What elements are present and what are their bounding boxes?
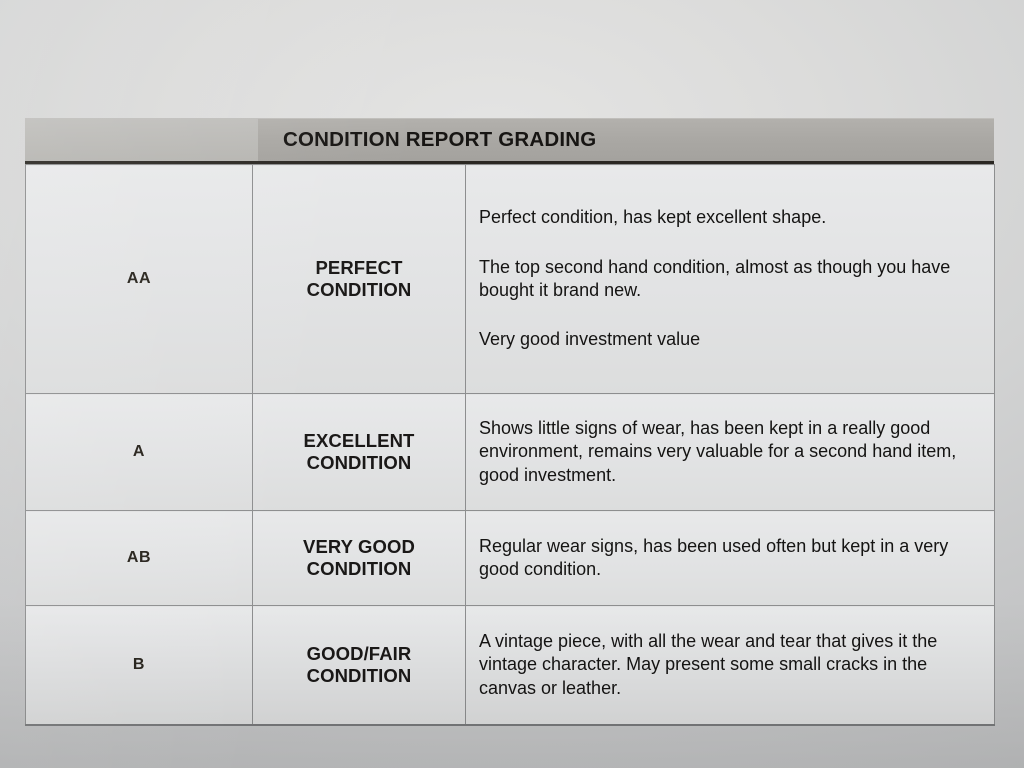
table-row: AA PERFECT CONDITION Perfect condition, … [26,165,995,394]
condition-name-line-1: EXCELLENT [254,430,464,452]
condition-description-cell: Shows little signs of wear, has been kep… [466,394,995,511]
grade-code-cell: AB [26,511,253,606]
table-header-bar: CONDITION REPORT GRADING [25,118,994,164]
condition-name-line-2: CONDITION [254,665,464,687]
grading-table: AA PERFECT CONDITION Perfect condition, … [25,164,995,726]
description-paragraph: Perfect condition, has kept excellent sh… [479,206,980,229]
condition-name-line-1: PERFECT [254,257,464,279]
condition-description-cell: Perfect condition, has kept excellent sh… [466,165,995,394]
photographed-document: CONDITION REPORT GRADING AA PERFECT COND… [0,0,1024,768]
grade-code-cell: AA [26,165,253,394]
condition-name-line-2: CONDITION [254,558,464,580]
condition-name-cell: PERFECT CONDITION [253,165,466,394]
header-left-spacer [25,118,258,161]
condition-description-cell: Regular wear signs, has been used often … [466,511,995,606]
condition-name-cell: EXCELLENT CONDITION [253,394,466,511]
condition-report-table: CONDITION REPORT GRADING AA PERFECT COND… [25,118,994,726]
description-paragraph: Shows little signs of wear, has been kep… [479,417,980,487]
condition-description-cell: A vintage piece, with all the wear and t… [466,606,995,726]
condition-name-line-2: CONDITION [254,279,464,301]
condition-name-line-2: CONDITION [254,452,464,474]
grade-code-cell: A [26,394,253,511]
description-paragraph: Regular wear signs, has been used often … [479,535,980,582]
table-row: AB VERY GOOD CONDITION Regular wear sign… [26,511,995,606]
condition-name-cell: GOOD/FAIR CONDITION [253,606,466,726]
condition-name-cell: VERY GOOD CONDITION [253,511,466,606]
condition-name-line-1: VERY GOOD [254,536,464,558]
description-paragraph: A vintage piece, with all the wear and t… [479,630,980,700]
description-paragraph: Very good investment value [479,328,980,351]
condition-name-line-1: GOOD/FAIR [254,643,464,665]
page-title: CONDITION REPORT GRADING [258,128,596,152]
table-row: B GOOD/FAIR CONDITION A vintage piece, w… [26,606,995,726]
grade-code-cell: B [26,606,253,726]
table-row: A EXCELLENT CONDITION Shows little signs… [26,394,995,511]
description-paragraph: The top second hand condition, almost as… [479,256,980,303]
